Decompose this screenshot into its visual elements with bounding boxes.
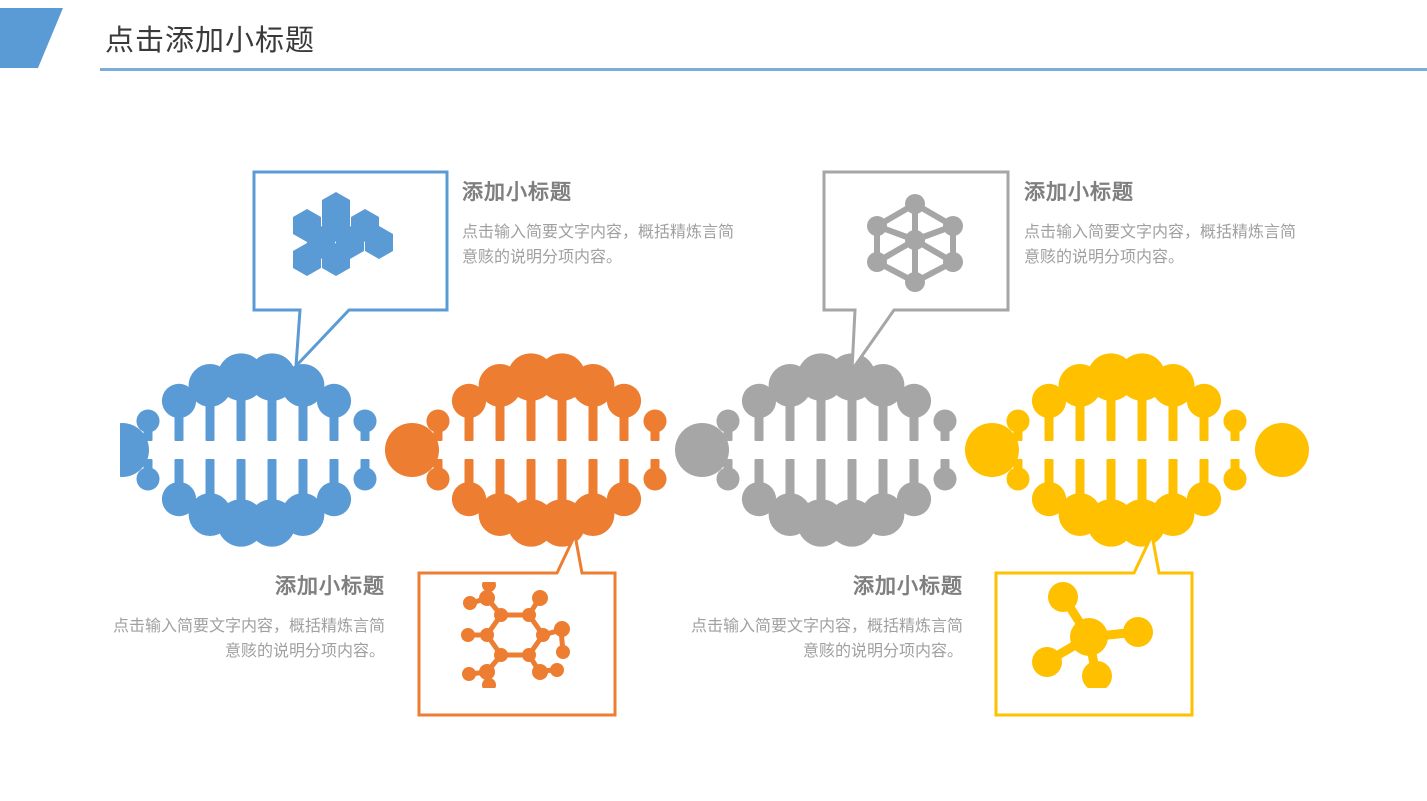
callout-yellow-text: 添加小标题 点击输入简要文字内容，概括精炼言简意赅的说明分项内容。 (688, 570, 963, 664)
slide-header: 点击添加小标题 (0, 0, 1427, 90)
callout-gray-body: 点击输入简要文字内容，概括精炼言简意赅的说明分项内容。 (1024, 220, 1299, 270)
callout-yellow-body: 点击输入简要文字内容，概括精炼言简意赅的说明分项内容。 (688, 614, 963, 664)
callout-orange-text: 添加小标题 点击输入简要文字内容，概括精炼言简意赅的说明分项内容。 (110, 570, 385, 664)
trapezoid-icon (0, 8, 80, 68)
callout-gray-text: 添加小标题 点击输入简要文字内容，概括精炼言简意赅的说明分项内容。 (1024, 176, 1299, 270)
hexagon-cluster-icon (252, 170, 449, 313)
page-title: 点击添加小标题 (105, 17, 315, 59)
callout-blue-title: 添加小标题 (462, 176, 737, 206)
callout-gray-title: 添加小标题 (1024, 176, 1299, 206)
callout-yellow-title: 添加小标题 (688, 570, 963, 600)
callout-orange-title: 添加小标题 (110, 570, 385, 600)
callout-orange-body: 点击输入简要文字内容，概括精炼言简意赅的说明分项内容。 (110, 614, 385, 664)
dna-helix-graphic (120, 352, 1310, 547)
header-divider (100, 68, 1427, 71)
callout-blue-text: 添加小标题 点击输入简要文字内容，概括精炼言简意赅的说明分项内容。 (462, 176, 737, 270)
benzene-molecule-icon (417, 560, 613, 710)
callout-blue-body: 点击输入简要文字内容，概括精炼言简意赅的说明分项内容。 (462, 220, 737, 270)
atom-star-icon (994, 560, 1190, 710)
cube-lattice-icon (822, 170, 1008, 313)
